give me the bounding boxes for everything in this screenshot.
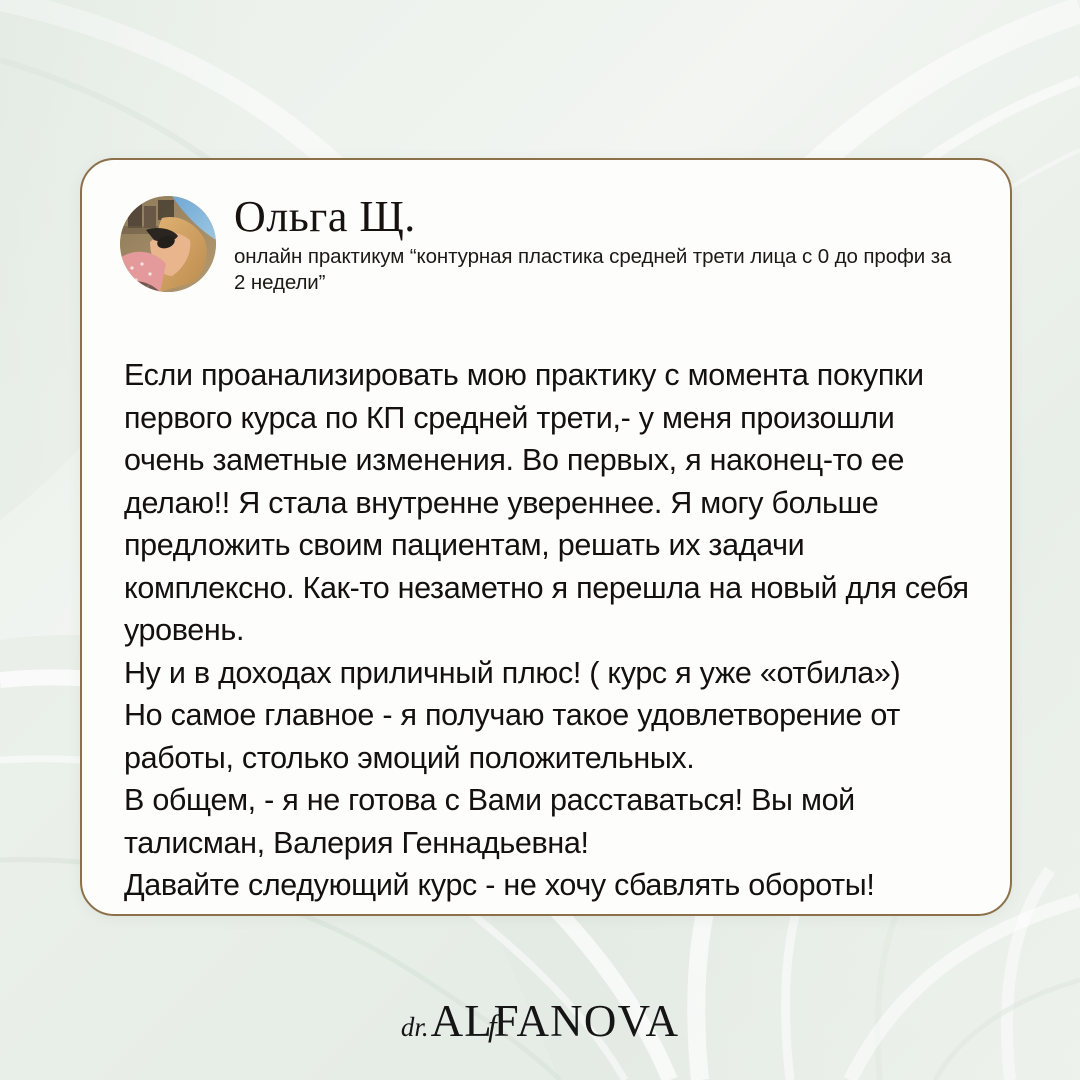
brand-logo-part-one: AL	[431, 996, 493, 1046]
avatar	[120, 196, 216, 292]
name-block: Ольга Щ. онлайн практикум “контурная пла…	[234, 192, 970, 296]
card-header: Ольга Щ. онлайн практикум “контурная пла…	[82, 160, 1010, 296]
brand-logo: dr.ALfFANOVA	[0, 995, 1080, 1047]
course-title: онлайн практикум “контурная пластика сре…	[234, 244, 964, 296]
brand-logo-prefix: dr.	[401, 1012, 431, 1042]
reviewer-name: Ольга Щ.	[234, 194, 970, 240]
brand-logo-part-two: FANOVA	[494, 996, 680, 1046]
brand-logo-wordmark: dr.ALfFANOVA	[401, 995, 679, 1047]
testimonial-card: Ольга Щ. онлайн практикум “контурная пла…	[80, 158, 1012, 916]
testimonial-text: Если проанализировать мою практику с мом…	[82, 296, 1010, 907]
